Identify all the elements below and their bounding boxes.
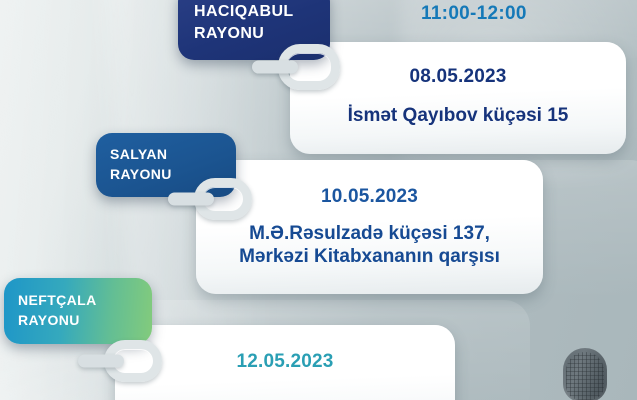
district-name-line2: RAYONU — [194, 23, 330, 45]
event-address-line: M.Ə.Rəsulzadə küçəsi 137, Mərkəzi Kitabx… — [196, 222, 543, 268]
event-card: 12.05.2023 — [115, 325, 455, 400]
event-card: 08.05.2023 İsmət Qayıbov küçəsi 15 — [290, 42, 626, 154]
district-name-line2: RAYONU — [110, 165, 236, 185]
district-tag-haciqabul: HACIQABUL RAYONU — [178, 0, 330, 60]
event-card: 10.05.2023 M.Ə.Rəsulzadə küçəsi 137, Mər… — [196, 160, 543, 294]
event-date: 10.05.2023 — [196, 186, 543, 208]
event-date: 08.05.2023 — [290, 66, 626, 88]
district-tag-neftcala: NEFTÇALA RAYONU — [4, 278, 152, 344]
district-name-line1: SALYAN — [110, 145, 236, 165]
district-name-line1: HACIQABUL — [194, 1, 330, 23]
microphone-icon — [563, 348, 607, 400]
poster-canvas: 11:00-12:00 08.05.2023 İsmət Qayıbov küç… — [0, 0, 637, 400]
district-tag-salyan: SALYAN RAYONU — [96, 133, 236, 197]
time-range-label: 11:00-12:00 — [421, 3, 527, 25]
district-name-line2: RAYONU — [18, 311, 152, 331]
event-address-line1: M.Ə.Rəsulzadə küçəsi 137, — [196, 222, 543, 245]
event-address-line2: Mərkəzi Kitabxananın qarşısı — [196, 245, 543, 268]
event-address-line: İsmət Qayıbov küçəsi 15 — [290, 104, 626, 127]
district-name-line1: NEFTÇALA — [18, 291, 152, 311]
event-date: 12.05.2023 — [115, 351, 455, 373]
